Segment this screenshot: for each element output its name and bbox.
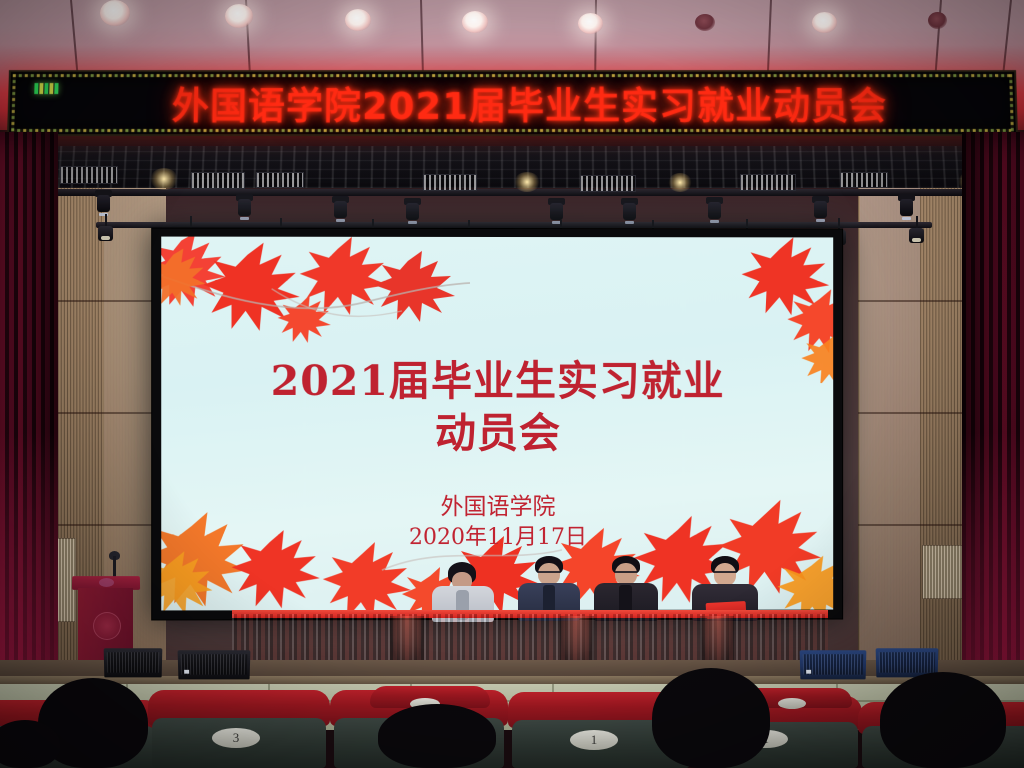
moving-head-light — [548, 198, 565, 224]
moving-head-light — [621, 198, 638, 224]
stage-curtain-left — [0, 132, 58, 692]
audience-member-silhouette — [880, 672, 1006, 768]
flood-light-panel — [423, 174, 477, 191]
moving-head-light — [812, 196, 829, 222]
light-hanger — [105, 214, 107, 226]
auditorium-photo: 2021届毕业生实习就业 动员会 外国语学院 2020年11月17日 外国语学院… — [0, 0, 1024, 768]
led-banner-text: 外国语学院2021届毕业生实习就业动员会 — [9, 76, 1016, 130]
maple-leaf-decoration-left-accent — [161, 247, 237, 337]
wall-seam — [46, 412, 166, 414]
slide-title-line2: 动员会 — [161, 407, 833, 460]
wall-vent-grille-right — [922, 545, 966, 599]
flood-light-panel — [60, 166, 118, 184]
ceiling-downlight — [100, 0, 130, 26]
ceiling-downlight — [812, 12, 837, 33]
podium-institution-emblem — [93, 612, 121, 640]
flood-light-panel — [256, 172, 304, 188]
flood-light-panel — [580, 175, 636, 192]
maple-leaf-decoration-top-left — [161, 237, 482, 361]
moving-head-light — [404, 198, 421, 224]
light-hanger — [190, 216, 192, 228]
ceiling-downlight — [345, 9, 371, 31]
podium-top-emblem — [99, 578, 114, 587]
ceiling-downlight — [578, 13, 603, 34]
flood-light-panel — [191, 172, 245, 189]
lamp-glow — [150, 168, 178, 190]
lighting-bar-upper — [40, 189, 984, 196]
light-hanger — [916, 216, 918, 228]
flood-light-panel — [840, 172, 888, 188]
ceiling-downlight-off — [695, 14, 715, 31]
panelist-glasses-icon — [538, 571, 560, 577]
moving-head-light — [332, 196, 349, 222]
stage-monitor-speaker — [178, 650, 251, 679]
audience-member-silhouette — [0, 720, 60, 768]
par-can-light — [909, 228, 924, 243]
seat-number-plate: 1 — [570, 730, 618, 750]
audience-member-silhouette — [652, 668, 770, 768]
slide-content: 2021届毕业生实习就业 动员会 外国语学院 2020年11月17日 — [161, 237, 833, 611]
seat-number-plate: 3 — [212, 728, 260, 748]
wall-seam — [46, 524, 166, 526]
par-can-light — [98, 226, 113, 241]
ceiling-downlight — [225, 4, 253, 28]
moving-head-light — [706, 197, 723, 223]
moving-head-light — [898, 194, 915, 220]
led-scrolling-banner: 外国语学院2021届毕业生实习就业动员会 — [7, 70, 1018, 136]
slide-title: 2021届毕业生实习就业 动员会 — [161, 355, 833, 460]
ceiling-downlight — [462, 11, 488, 33]
wall-seam — [858, 524, 978, 526]
stage-monitor-speaker — [800, 650, 867, 679]
panelist-glasses-icon — [615, 571, 637, 577]
ceiling-downlight-off — [928, 12, 947, 29]
wall-seam — [858, 412, 978, 414]
wall-pilaster-right — [860, 186, 920, 672]
lamp-glow — [668, 173, 692, 192]
audience-seat[interactable]: 3 — [148, 690, 330, 768]
moving-head-light — [95, 190, 112, 216]
wall-seam — [858, 300, 978, 302]
slide-date: 2020年11月17日 — [161, 519, 833, 552]
audience-member-silhouette — [378, 704, 496, 768]
wall-seam — [46, 300, 166, 302]
moving-head-light — [236, 194, 253, 220]
stage-monitor-speaker — [104, 648, 163, 677]
panelist-glasses-icon — [714, 571, 736, 577]
slide-title-line1: 2021届毕业生实习就业 — [161, 355, 833, 408]
lamp-glow — [514, 172, 540, 192]
podium-microphone-stem — [113, 556, 116, 578]
stage-curtain-right — [962, 132, 1024, 692]
flood-light-panel — [740, 174, 796, 191]
